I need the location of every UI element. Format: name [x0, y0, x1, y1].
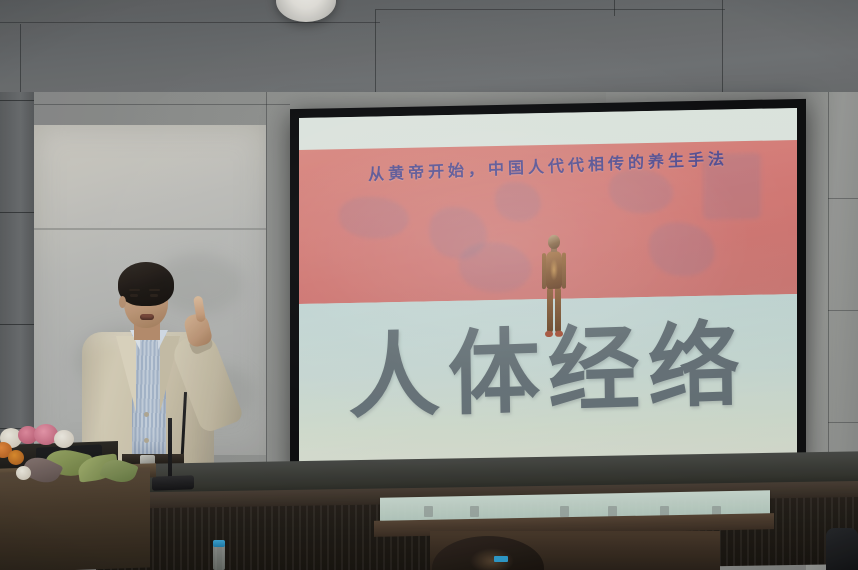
calligraphy-watermark — [339, 196, 409, 239]
flower-arrangement — [0, 424, 134, 494]
figure-arm-right — [562, 253, 566, 289]
microphone-stand-base — [152, 475, 194, 490]
ceiling-seam — [375, 10, 376, 104]
calligraphy-watermark — [495, 181, 541, 222]
pillar-seam — [0, 212, 34, 213]
wall-seam — [828, 422, 858, 423]
calligraphy-watermark — [649, 222, 715, 277]
blazer-button — [144, 412, 149, 417]
presentation-slide: 从黄帝开始，中国人代代相传的养生手法 人体经络 — [299, 108, 797, 464]
ceiling-seam — [614, 0, 615, 16]
whiteboard-edge — [34, 228, 266, 230]
water-bottle — [213, 544, 225, 570]
presenter-eyebrow — [129, 289, 140, 291]
wall-seam — [828, 310, 858, 311]
wall-seam — [266, 92, 267, 472]
wall-seam — [828, 198, 858, 199]
wall-seam — [0, 104, 290, 105]
white-rose — [16, 466, 31, 480]
rail-standoff-clip — [560, 506, 569, 517]
calligraphy-watermark — [459, 241, 531, 292]
presenter-mouth — [140, 314, 154, 320]
ceiling-seam — [375, 9, 725, 10]
pillar-seam — [0, 100, 34, 101]
presenter-eye — [130, 294, 138, 297]
figure-meridian-glow — [550, 259, 558, 281]
projection-screen-frame: 从黄帝开始，中国人代代相传的养生手法 人体经络 — [290, 99, 806, 481]
water-bottle-cap — [213, 540, 225, 547]
ceiling-seam — [722, 0, 723, 100]
rail-standoff-clip — [470, 506, 479, 517]
presenter-hair — [118, 262, 174, 306]
ceiling-panels — [0, 0, 858, 104]
calligraphy-watermark — [609, 168, 673, 213]
presenter-eye — [150, 294, 158, 297]
dome-ceiling-light — [276, 0, 336, 22]
figure-head — [548, 235, 560, 249]
lecture-hall-photo: 从黄帝开始，中国人代代相传的养生手法 人体经络 — [0, 0, 858, 570]
rail-standoff-clip — [424, 506, 433, 517]
microphone-stand — [168, 418, 172, 484]
pillar-seam — [0, 324, 34, 325]
white-rose — [54, 430, 74, 448]
chair-back — [826, 528, 858, 570]
presenter-eyebrow — [149, 289, 160, 291]
slide-title: 人体经络 — [299, 317, 797, 425]
orange-flower — [8, 450, 24, 465]
blazer-button — [144, 438, 149, 443]
presenter-ear — [119, 296, 126, 308]
ceiling-seam — [0, 22, 380, 23]
blue-object — [494, 556, 508, 562]
